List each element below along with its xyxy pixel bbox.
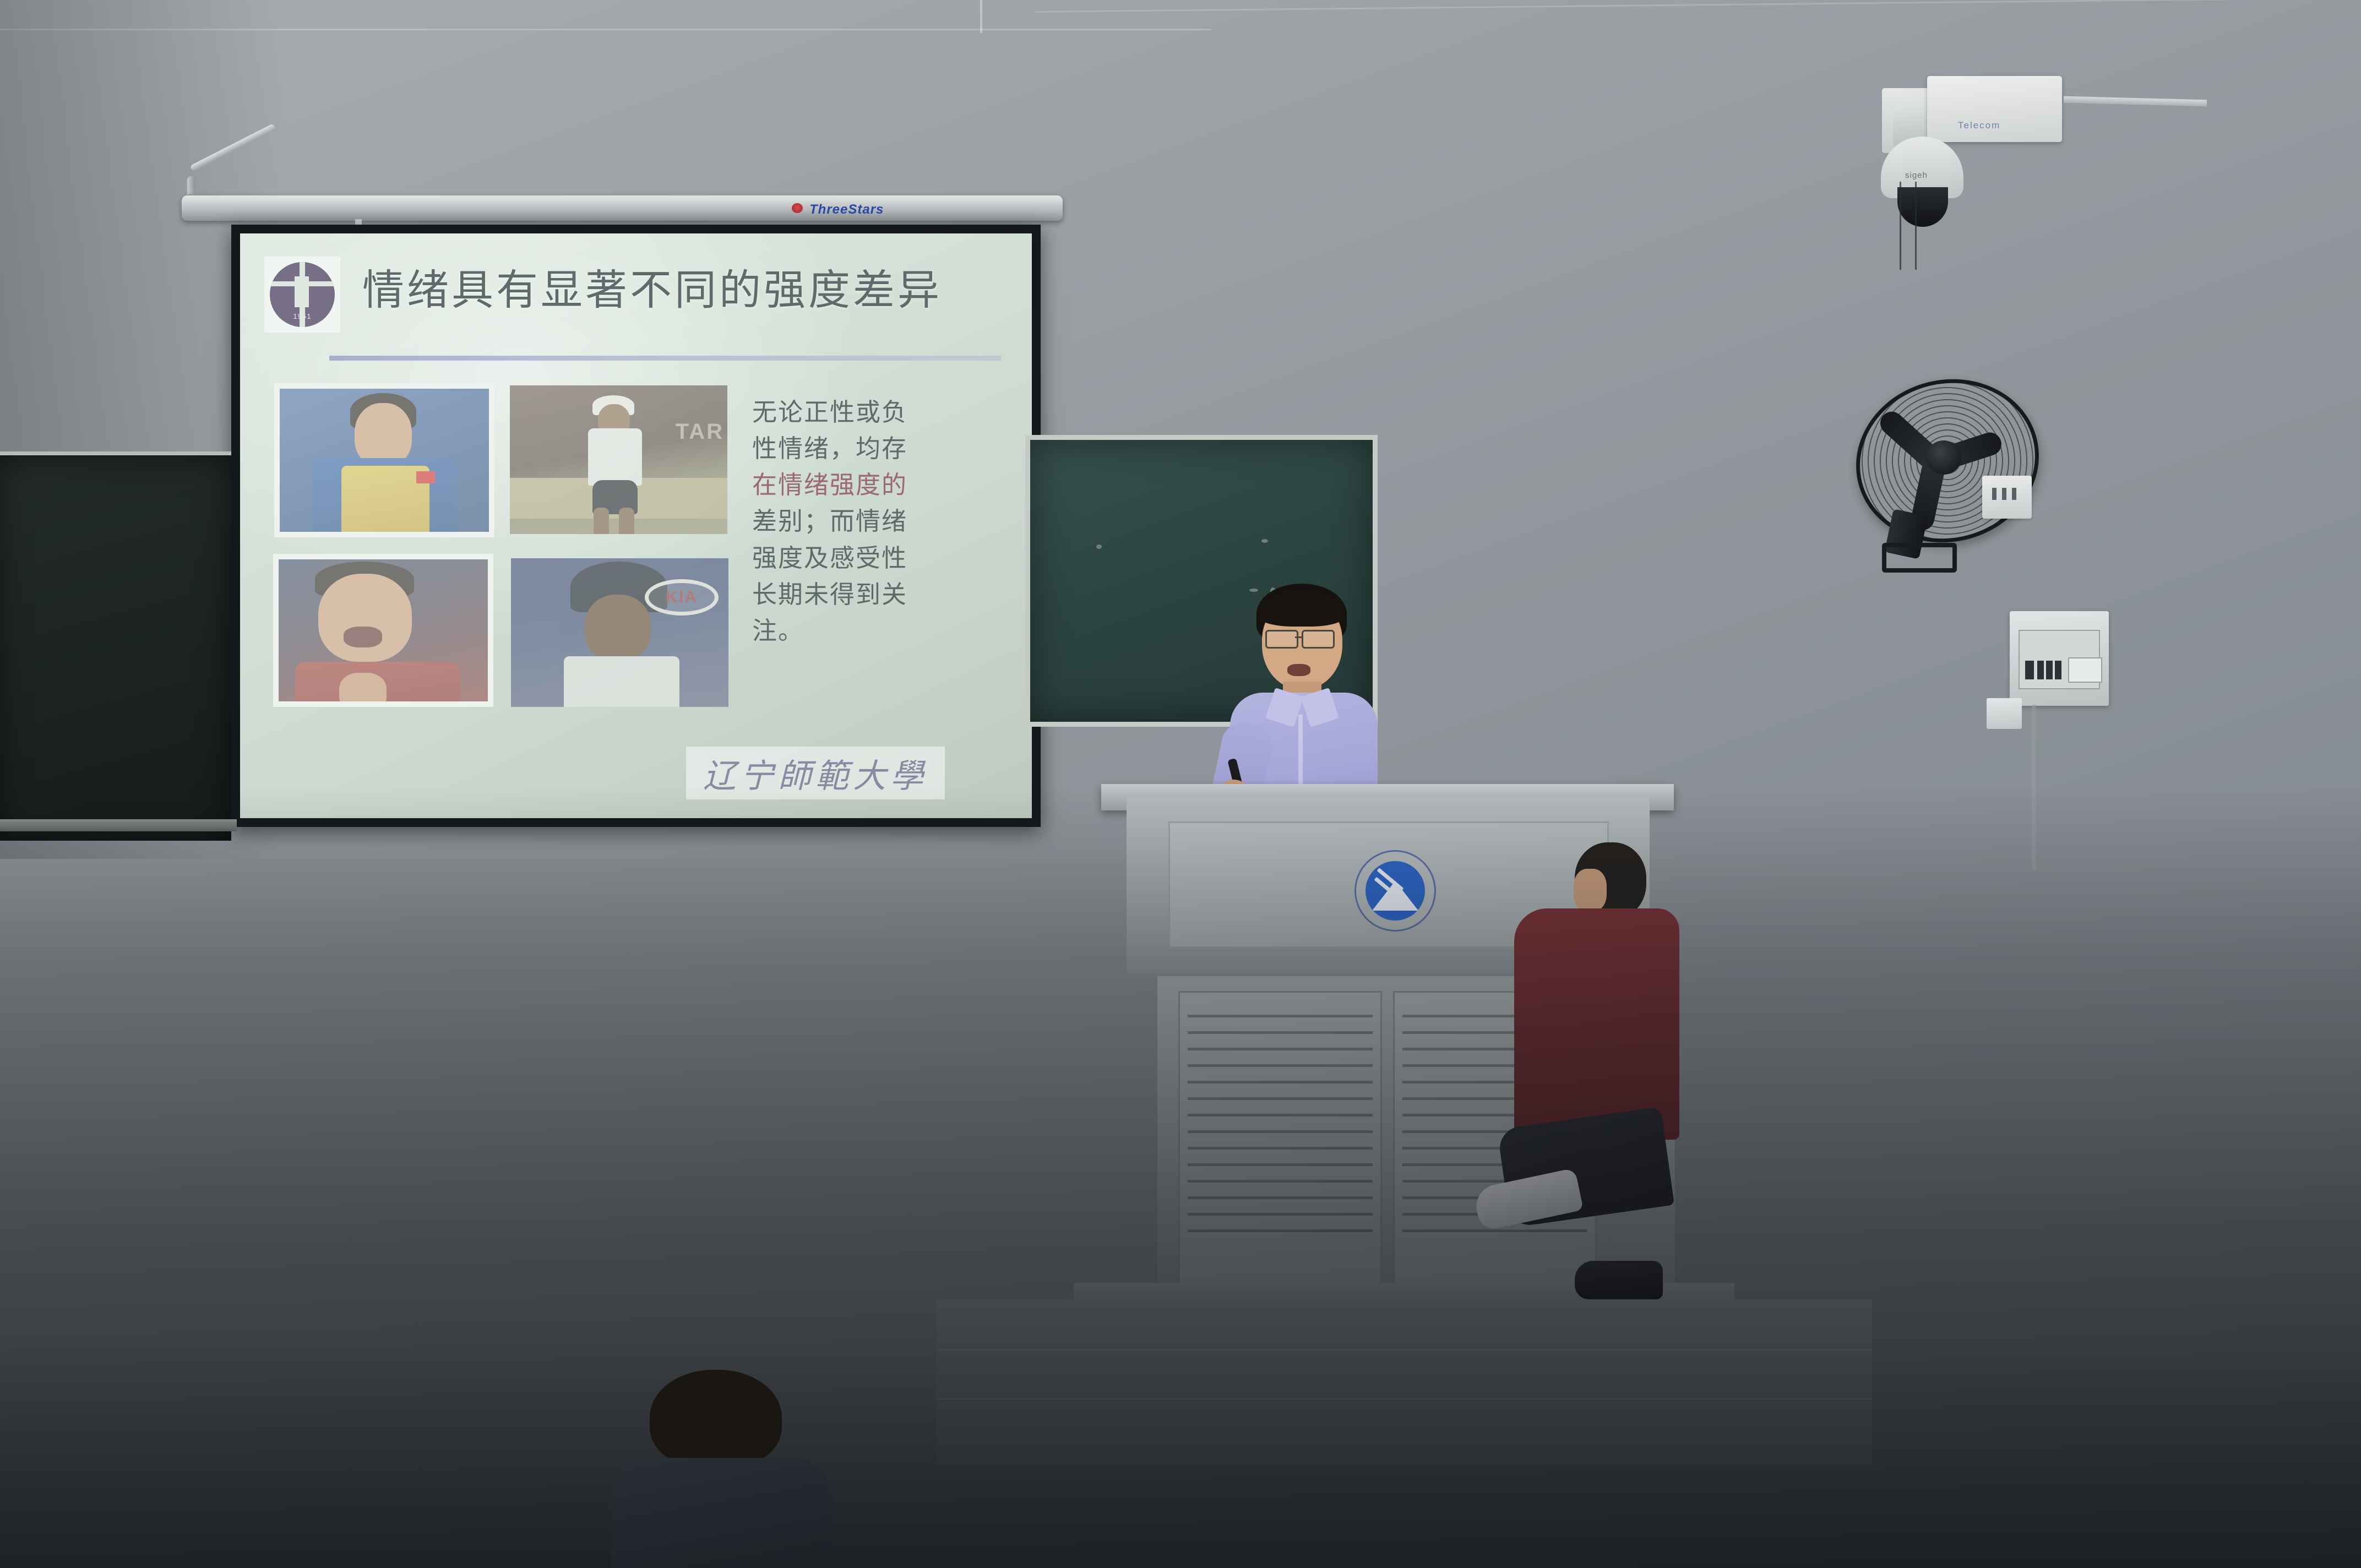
- slide-photo-sign-tar: TAR: [676, 420, 724, 444]
- slide-photo-bottom-right: KIA: [511, 558, 728, 707]
- wall-fan-icon[interactable]: [1856, 380, 2037, 545]
- lecture-hall-scene: ThreeStars 1951 情绪具有显著不同的强度差异: [0, 0, 2361, 1568]
- slide-body-line-6: 长期未得到关: [752, 576, 971, 613]
- slide-photo-bottom-left: [273, 554, 493, 707]
- junction-box-label: Telecom: [1958, 120, 2000, 131]
- slide-photo-kia-badge: KIA: [645, 579, 719, 616]
- screen-brand-label: ThreeStars: [809, 202, 884, 217]
- slide-photo-top-right: TAR: [510, 385, 727, 534]
- brand-star-icon: [792, 203, 803, 213]
- slide-body-line-4: 差别；而情绪: [752, 503, 971, 540]
- seal-year-label: 1951: [270, 312, 335, 320]
- slide-canvas: 1951 情绪具有显著不同的强度差异: [240, 233, 1032, 818]
- lower-wall-socket[interactable]: [1987, 698, 2022, 729]
- slide-body-line-5: 强度及感受性: [752, 540, 971, 576]
- power-outlet-icon[interactable]: [1982, 476, 2032, 519]
- fan-pull-cord-right[interactable]: [1915, 182, 1917, 270]
- camera-brand-label: sigeh: [1905, 171, 1928, 180]
- slide-title-divider: [329, 356, 1001, 361]
- slide-photo-top-left: [274, 383, 494, 537]
- audience-area: BE: [0, 786, 2361, 1568]
- eyeglasses-icon: [1265, 630, 1298, 649]
- electrical-panel-icon[interactable]: [2010, 611, 2109, 706]
- slide-photo-grid: TAR: [273, 383, 725, 708]
- wall-seam: [980, 0, 982, 33]
- slide-body-line-7: 注。: [752, 613, 971, 649]
- network-junction-box: [1927, 76, 2062, 142]
- slide-title: 情绪具有显著不同的强度差异: [362, 269, 984, 313]
- slide-body-text: 无论正性或负 性情绪，均存 在情绪强度的 差别；而情绪 强度及感受性 长期未得到…: [752, 394, 971, 649]
- slide-body-line-1: 无论正性或负: [752, 394, 971, 431]
- slide-body-line-3: 在情绪强度的: [752, 467, 971, 503]
- slide-university-logo: 1951: [264, 257, 340, 333]
- university-seal-icon: 1951: [270, 262, 335, 327]
- lecturer: [1200, 584, 1399, 815]
- chalkboard-left: [0, 451, 231, 841]
- audience-torso: [611, 1458, 831, 1568]
- fan-pull-cord-left[interactable]: [1900, 182, 1901, 270]
- audience-head: [650, 1370, 782, 1469]
- projection-screen: 1951 情绪具有显著不同的强度差异: [231, 225, 1041, 827]
- projector-screen-housing[interactable]: ThreeStars: [182, 195, 1063, 221]
- slide-body-line-2: 性情绪，均存: [752, 431, 971, 467]
